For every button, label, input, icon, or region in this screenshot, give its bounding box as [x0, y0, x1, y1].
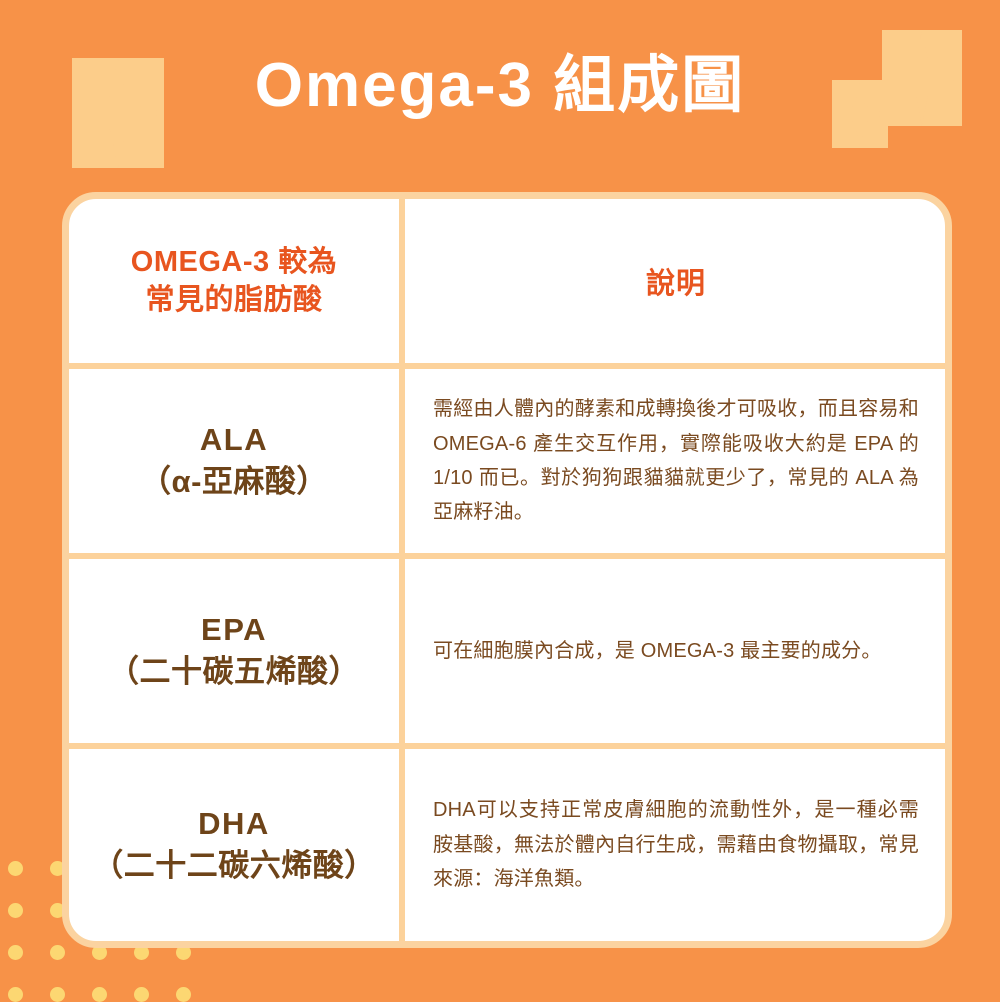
header-cell-description: 說明 [405, 199, 945, 363]
decorative-dot [50, 945, 65, 960]
cell-description-dha: DHA可以支持正常皮膚細胞的流動性外，是一種必需胺基酸，無法於體內自行生成，需藉… [405, 749, 945, 941]
ala-description: 需經由人體內的酵素和成轉換後才可吸收，而且容易和 OMEGA-6 產生交互作用，… [433, 392, 919, 530]
epa-abbreviation: EPA [201, 609, 267, 651]
header-fatty-acid-line2: 常見的脂肪酸 [145, 281, 322, 319]
decorative-dot [8, 903, 23, 918]
ala-abbreviation: ALA [200, 419, 268, 461]
table-row-epa: EPA （二十碳五烯酸） 可在細胞膜內合成，是 OMEGA-3 最主要的成分。 [69, 553, 945, 743]
omega3-composition-table: OMEGA-3 較為 常見的脂肪酸 說明 ALA （α-亞麻酸） 需經由人體內的… [62, 192, 952, 948]
epa-description: 可在細胞膜內合成，是 OMEGA-3 最主要的成分。 [433, 634, 919, 668]
table-header-row: OMEGA-3 較為 常見的脂肪酸 說明 [69, 199, 945, 363]
dha-abbreviation: DHA [198, 803, 270, 845]
epa-full-name: （二十碳五烯酸） [108, 651, 360, 693]
ala-full-name: （α-亞麻酸） [140, 461, 328, 503]
decorative-dot [8, 861, 23, 876]
page-title: Omega-3 組成圖 [0, 52, 1000, 120]
header-fatty-acid-line1: OMEGA-3 較為 [131, 243, 337, 281]
dha-full-name: （二十二碳六烯酸） [92, 845, 376, 887]
cell-description-epa: 可在細胞膜內合成，是 OMEGA-3 最主要的成分。 [405, 559, 945, 743]
table-row-dha: DHA （二十二碳六烯酸） DHA可以支持正常皮膚細胞的流動性外，是一種必需胺基… [69, 743, 945, 941]
cell-description-ala: 需經由人體內的酵素和成轉換後才可吸收，而且容易和 OMEGA-6 產生交互作用，… [405, 369, 945, 553]
dha-description: DHA可以支持正常皮膚細胞的流動性外，是一種必需胺基酸，無法於體內自行生成，需藉… [433, 793, 919, 896]
header-cell-fatty-acid: OMEGA-3 較為 常見的脂肪酸 [69, 199, 405, 363]
decorative-dot [8, 945, 23, 960]
cell-name-ala: ALA （α-亞麻酸） [69, 369, 405, 553]
header-description-label: 說明 [433, 260, 919, 302]
cell-name-epa: EPA （二十碳五烯酸） [69, 559, 405, 743]
table-row-ala: ALA （α-亞麻酸） 需經由人體內的酵素和成轉換後才可吸收，而且容易和 OME… [69, 363, 945, 553]
cell-name-dha: DHA （二十二碳六烯酸） [69, 749, 405, 941]
